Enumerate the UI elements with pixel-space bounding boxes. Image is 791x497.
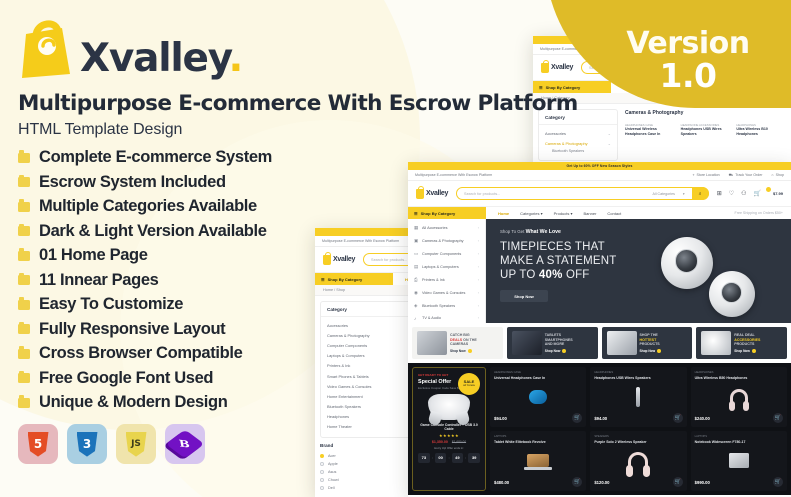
- category-subrow[interactable]: Bluetooth Speakers: [539, 148, 617, 155]
- product-price: $240.00: [695, 416, 710, 421]
- product-card[interactable]: SPEAKERS Purple Solo 2 Wireless Speaker …: [590, 431, 686, 491]
- add-to-cart-button[interactable]: 🛒: [773, 477, 783, 487]
- add-to-cart-button[interactable]: 🛒: [572, 413, 582, 423]
- site-header: Xvalley Search for products... All Categ…: [408, 181, 791, 206]
- promo-image: [417, 331, 447, 355]
- product-category: HEADPHONES CASE: [494, 371, 582, 374]
- section-title: Cameras & Photography: [625, 110, 785, 116]
- folder-bullet-icon: [18, 349, 30, 359]
- promo-text: SHOP THE HOTTEST PRODUCTS: [640, 333, 662, 348]
- feature-item: Easy To Customize: [18, 295, 348, 314]
- countdown-seconds: 39: [468, 453, 480, 463]
- feature-item: Fully Responsive Layout: [18, 320, 348, 339]
- sidebar-item[interactable]: ▦All Accessories›: [408, 221, 485, 234]
- promo-shop-now-button[interactable]: Shop Now: [450, 349, 477, 353]
- promo-strip: Get Up to 60% OFF New Season Styles: [408, 162, 791, 170]
- product-price: $120.00: [594, 480, 609, 485]
- nav-link-contact[interactable]: Contact: [607, 211, 621, 216]
- hero-banner: Shop To Get What We Love TIMEPIECES THAT…: [486, 219, 791, 323]
- folder-bullet-icon: [18, 202, 30, 212]
- arrow-dot-icon: [468, 349, 472, 353]
- sidebar-item[interactable]: ◉Video Games & Consoles›: [408, 286, 485, 299]
- product-card[interactable]: HEADPHONES Ultra Wireless B50 Headphones…: [691, 367, 787, 427]
- shop-by-category-button[interactable]: ☰ Shop By Category: [408, 207, 486, 219]
- product-category: LAPTOPS: [695, 435, 783, 438]
- arrow-dot-icon: [657, 349, 661, 353]
- css3-icon: 3: [77, 432, 98, 457]
- promo-content: Xvalley. Multipurpose E-commerce With Es…: [18, 12, 348, 464]
- add-to-cart-button[interactable]: 🛒: [673, 477, 683, 487]
- countdown-hours: 00: [435, 453, 447, 463]
- product-card[interactable]: LAPTOPS Tablet White Elitebook Revolve $…: [490, 431, 586, 491]
- logo-text: Xvalley: [426, 190, 448, 197]
- arrow-dot-icon: [562, 349, 566, 353]
- search-input[interactable]: Search for products... All Categories ▾ …: [456, 187, 709, 200]
- bootstrap-icon: B: [166, 429, 205, 458]
- category-row[interactable]: Cameras & Photography⌄: [539, 138, 617, 148]
- logo[interactable]: Xvalley: [416, 189, 448, 199]
- version-number: 1.0: [660, 59, 717, 94]
- sidebar-item[interactable]: ▣Cameras & Photography›: [408, 234, 485, 247]
- wishlist-heart-icon[interactable]: ♡: [729, 190, 734, 197]
- product-card[interactable]: HEADPHONES Headphones USB Wires Speakers…: [590, 367, 686, 427]
- product-category: SPEAKERS: [594, 435, 682, 438]
- product-card[interactable]: HEADPHONES CASE Universal Headphones Cas…: [490, 367, 586, 427]
- search-placeholder: Search for products...: [371, 258, 407, 262]
- sidebar-item[interactable]: ▤Laptops & Computers›: [408, 261, 485, 274]
- html5-icon: 5: [28, 432, 49, 457]
- folder-bullet-icon: [18, 226, 30, 236]
- menu-icon: ☰: [414, 211, 418, 216]
- promo-image: [607, 331, 637, 355]
- special-offer-card: SALE UP TO 50% GET READY TO GET Special …: [412, 367, 486, 491]
- offer-countdown-label: Hurry Up! Offer ends in:: [418, 446, 480, 450]
- brand-logo: Xvalley.: [18, 12, 348, 82]
- product-category: HEADPHONES: [695, 371, 783, 374]
- countdown-days: 73: [418, 453, 430, 463]
- free-shipping-note: Free Shipping on Orders $50+: [735, 207, 791, 219]
- category-row[interactable]: Accessories⌄: [539, 128, 617, 138]
- cart-badge: [766, 187, 771, 192]
- folder-bullet-icon: [18, 275, 30, 285]
- folder-bullet-icon: [18, 398, 30, 408]
- site-tagline: Multipurpose E-commerce With Escrow Plat…: [415, 173, 492, 177]
- search-icon[interactable]: ⌕: [692, 187, 709, 200]
- user-account-icon[interactable]: ⚇: [741, 190, 746, 197]
- product-category: HEADPHONES: [594, 371, 682, 374]
- promo-text: TABLETS SMARTPHONES AND MORE: [545, 333, 573, 348]
- earbud-product-image: [709, 271, 755, 317]
- rating-stars: ★★★★★: [418, 433, 480, 438]
- feature-item: Unique & Modern Design: [18, 393, 348, 412]
- page-title: Multipurpose E-commerce With Escrow Plat…: [18, 92, 348, 116]
- nav-link-products[interactable]: Products ▾: [554, 211, 573, 216]
- shopping-bag-icon: [541, 63, 549, 73]
- promo-shop-now-button[interactable]: Shop Now: [734, 349, 760, 353]
- category-filter-panel: Category Accessories⌄ Cameras & Photogra…: [538, 109, 618, 161]
- hero-kicker: Shop To Get What We Love: [500, 229, 791, 235]
- promo-text: CATCH BIG DEALS ON THE CAMERAS: [450, 333, 477, 348]
- promo-banner-row: CATCH BIG DEALS ON THE CAMERAS Shop Now …: [408, 323, 791, 363]
- feature-list: Complete E-commerce System Escrow System…: [18, 148, 348, 412]
- html5-badge: 5: [18, 424, 58, 464]
- truck-icon: ⛟: [729, 173, 734, 178]
- promo-image: [512, 331, 542, 355]
- promo-image: [701, 331, 731, 355]
- promo-text: REAL DEAL ACCESSORIES PRODUCTS: [734, 333, 760, 348]
- product-image: [529, 390, 547, 404]
- promo-shop-now-button[interactable]: Shop Now: [640, 349, 662, 353]
- promo-banner[interactable]: TABLETS SMARTPHONES AND MORE Shop Now: [507, 327, 598, 359]
- product-price: $990.00: [695, 480, 710, 485]
- mockup-home-page: Get Up to 60% OFF New Season Styles Mult…: [408, 162, 791, 497]
- feature-item: Complete E-commerce System: [18, 148, 348, 167]
- feature-item: Free Google Font Used: [18, 369, 348, 388]
- add-to-cart-button[interactable]: 🛒: [673, 413, 683, 423]
- folder-bullet-icon: [18, 153, 30, 163]
- chevron-right-icon: ›: [478, 291, 479, 295]
- sidebar-item[interactable]: ⎙Printers & Ink›: [408, 274, 485, 286]
- add-to-cart-button[interactable]: 🛒: [572, 477, 582, 487]
- feature-item: Dark & Light Version Available: [18, 222, 348, 241]
- chevron-right-icon: ›: [478, 239, 479, 243]
- folder-bullet-icon: [18, 324, 30, 334]
- countdown-timer: 73 : 00 : 49 : 39: [418, 453, 480, 463]
- technology-badges: 5 3 JS B: [18, 424, 348, 464]
- logo-text: Xvalley: [551, 64, 573, 71]
- primary-nav: ☰ Shop By Category Home Categories ▾ Pro…: [408, 206, 791, 219]
- promo-strip-text: Get Up to 60% OFF New Season Styles: [408, 162, 791, 170]
- folder-bullet-icon: [18, 373, 30, 383]
- sidebar-item[interactable]: ◈Bluetooth Speakers›: [408, 299, 485, 312]
- folder-bullet-icon: [18, 251, 30, 261]
- promo-banner[interactable]: CATCH BIG DEALS ON THE CAMERAS Shop Now: [412, 327, 503, 359]
- chevron-down-icon: ⌄: [608, 131, 611, 136]
- brand-name: Xvalley.: [80, 39, 242, 78]
- shopping-bag-icon: [18, 12, 78, 82]
- radio-icon: [320, 478, 324, 482]
- earbud-lens: [675, 249, 699, 273]
- radio-icon: [320, 470, 324, 474]
- bag-icon: ⌂: [771, 173, 773, 177]
- countdown-minutes: 49: [452, 453, 464, 463]
- product-image: [628, 452, 648, 470]
- poster-canvas: Get Up to 60% OFF New Season Styles Mult…: [0, 0, 791, 497]
- product-name[interactable]: Universal Wireless Headphones Case In: [625, 127, 674, 136]
- css3-badge: 3: [67, 424, 107, 464]
- compare-icon[interactable]: ⊞: [717, 190, 722, 197]
- product-image: [527, 454, 549, 467]
- feature-item: Cross Browser Compatible: [18, 344, 348, 363]
- offer-price: $1,350.00 $1,680.00: [418, 440, 480, 444]
- chevron-right-icon: ›: [478, 316, 479, 320]
- arrow-dot-icon: [752, 349, 756, 353]
- chevron-right-icon: ›: [478, 265, 479, 269]
- nav-link-banner[interactable]: Banner: [584, 211, 597, 216]
- earbud-product-image: [661, 237, 713, 289]
- javascript-icon: JS: [126, 432, 147, 457]
- chevron-right-icon: ›: [478, 304, 479, 308]
- product-price: $94.00: [494, 416, 507, 421]
- add-to-cart-button[interactable]: 🛒: [773, 413, 783, 423]
- util-link-shop[interactable]: ⌂Shop: [771, 173, 784, 178]
- shopping-bag-icon: [416, 189, 424, 199]
- cart-icon[interactable]: 🛒: [754, 190, 766, 197]
- chevron-right-icon: ›: [478, 278, 479, 282]
- sale-badge: SALE UP TO 50%: [458, 373, 480, 395]
- earbud-lens: [721, 282, 742, 303]
- product-section: SALE UP TO 50% GET READY TO GET Special …: [408, 363, 791, 495]
- category-panel-title: Category: [539, 115, 617, 125]
- category-sidebar: ▦All Accessories› ▣Cameras & Photography…: [408, 219, 486, 323]
- countdown-separator: :: [448, 455, 449, 460]
- feature-item: 01 Home Page: [18, 246, 348, 265]
- chevron-right-icon: ›: [478, 252, 479, 256]
- product-image: [636, 387, 640, 407]
- product-category: LAPTOPS: [494, 435, 582, 438]
- logo[interactable]: Xvalley: [541, 63, 573, 73]
- javascript-badge: JS: [116, 424, 156, 464]
- product-grid: HEADPHONES CASE Universal Headphones Cas…: [490, 367, 787, 491]
- utility-bar: Multipurpose E-commerce With Escrow Plat…: [408, 170, 791, 181]
- version-label: Version: [626, 29, 749, 59]
- hero-title: TIMEPIECES THAT MAKE A STATEMENT UP TO 4…: [500, 240, 791, 282]
- nav-link-categories[interactable]: Categories ▾: [520, 211, 542, 216]
- product-price: $480.00: [494, 480, 509, 485]
- countdown-separator: :: [465, 455, 466, 460]
- folder-bullet-icon: [18, 177, 30, 187]
- gamepad-product-image: [428, 394, 470, 420]
- search-category-select[interactable]: All Categories ▾: [653, 192, 688, 196]
- nav-link-home[interactable]: Home: [498, 211, 509, 216]
- product-image: [730, 389, 748, 405]
- chevron-right-icon: ›: [478, 226, 479, 230]
- promo-banner[interactable]: REAL DEAL ACCESSORIES PRODUCTS Shop Now: [696, 327, 787, 359]
- promo-banner[interactable]: SHOP THE HOTTEST PRODUCTS Shop Now: [602, 327, 693, 359]
- folder-bullet-icon: [18, 300, 30, 310]
- sidebar-item[interactable]: ▭Computer Components›: [408, 247, 485, 260]
- util-link-track-order[interactable]: ⛟Track Your Order: [729, 173, 763, 178]
- util-link-store-location[interactable]: ⌖Store Location: [692, 173, 719, 178]
- hero-shop-now-button[interactable]: Shop Now: [500, 290, 548, 302]
- chevron-down-icon: ▾: [683, 192, 685, 196]
- bootstrap-badge: B: [165, 424, 205, 464]
- product-price: $94.00: [594, 416, 607, 421]
- menu-icon: ☰: [539, 85, 543, 90]
- product-card[interactable]: LAPTOPS Notebook Widescreen F780-17 $990…: [691, 431, 787, 491]
- feature-item: 11 Innear Pages: [18, 271, 348, 290]
- product-image: [729, 453, 749, 468]
- sidebar-item[interactable]: ♪TV & Audio›: [408, 312, 485, 324]
- cart-amount: $7.99: [773, 191, 783, 196]
- radio-icon: [320, 486, 324, 490]
- feature-item: Escrow System Included: [18, 173, 348, 192]
- location-icon: ⌖: [692, 173, 694, 177]
- promo-shop-now-button[interactable]: Shop Now: [545, 349, 573, 353]
- feature-item: Multiple Categories Available: [18, 197, 348, 216]
- product-name[interactable]: Headphones USB Wires Speakers: [681, 127, 730, 136]
- countdown-separator: :: [432, 455, 433, 460]
- search-placeholder: Search for products...: [464, 192, 500, 196]
- page-subtitle: HTML Template Design: [18, 121, 348, 139]
- chevron-down-icon: ⌄: [608, 141, 611, 146]
- offer-product-name[interactable]: Game Console Controller + USB 3.0 Cable: [418, 423, 480, 431]
- product-name[interactable]: Ultra Wireless B10 Headphones: [736, 127, 785, 136]
